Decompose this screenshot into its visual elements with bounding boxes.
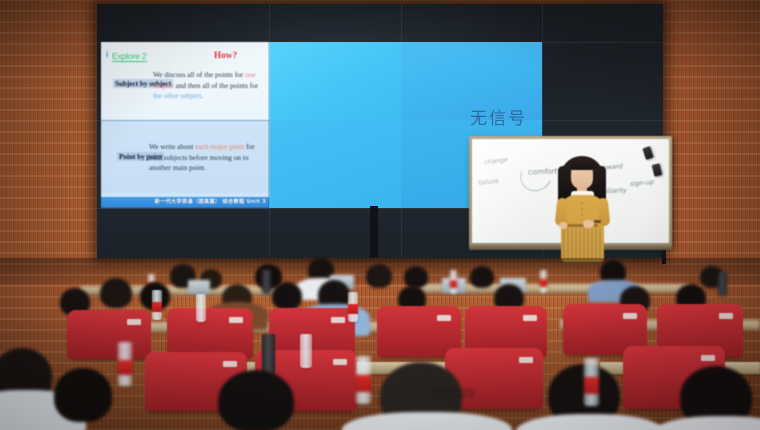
seat-number-tag <box>523 315 537 321</box>
water-bottle <box>196 294 206 322</box>
water-bottle <box>584 358 599 406</box>
water-bottle <box>300 334 312 368</box>
slide-footer-text: 新一代大学英语（提高篇） 综合教程 Unit 3 <box>155 197 266 208</box>
seat-number-tag <box>333 359 347 365</box>
slide-heading: How? <box>214 50 237 60</box>
water-bottle <box>348 292 358 322</box>
presentation-slide: i Explore 2 How? Subject by subject Poin… <box>101 42 269 208</box>
foreground-shoulders <box>652 416 760 430</box>
teacher-button <box>581 214 583 216</box>
eyeglasses <box>432 390 474 396</box>
seat-number-tag <box>223 361 237 367</box>
no-signal-label: 无信号 <box>470 104 527 129</box>
slide-footer-bar: 新一代大学英语（提高篇） 综合教程 Unit 3 <box>101 197 269 208</box>
foreground-shoulders <box>516 414 664 430</box>
info-icon: i <box>106 50 108 59</box>
water-bottle <box>540 270 547 293</box>
lecture-hall-photo: 无信号 i Explore 2 How? Subject by subject … <box>0 0 760 430</box>
student-head <box>470 266 494 288</box>
student-head <box>272 282 302 310</box>
seat-number-tag <box>331 317 345 323</box>
water-bottle <box>356 356 371 404</box>
slide-row-body: We write about each major point for both… <box>149 142 261 174</box>
teacher-hand-right <box>583 220 594 228</box>
seat-number-tag <box>701 355 715 361</box>
water-bottle <box>118 342 132 386</box>
teacher-wristband <box>594 220 601 223</box>
audience-area <box>0 250 760 430</box>
lecture-chair <box>170 310 250 358</box>
thermos <box>262 334 275 374</box>
foreground-shoulders <box>342 412 512 430</box>
slide-section-title: Explore 2 <box>112 51 147 62</box>
student-head <box>404 266 428 288</box>
teacher-button <box>581 202 583 204</box>
water-bottle <box>450 270 457 294</box>
seat-number-tag <box>127 319 141 325</box>
student-head <box>366 264 392 288</box>
laptop <box>188 280 210 294</box>
teacher-fringe <box>569 158 595 170</box>
seat-number-tag <box>229 317 243 323</box>
teacher-figure <box>552 150 614 262</box>
teacher-hand-left <box>559 222 567 229</box>
teacher-button <box>581 208 583 210</box>
seat-number-tag <box>719 313 733 319</box>
slide-row-divider <box>101 120 269 121</box>
thermos <box>262 270 271 294</box>
display-tile-blue <box>269 42 401 120</box>
student-head <box>100 278 132 308</box>
seat-number-tag <box>437 315 451 321</box>
foreground-head <box>54 368 112 422</box>
water-bottle <box>152 290 162 320</box>
lecture-chair <box>380 308 458 356</box>
lecture-chair <box>70 312 148 358</box>
thermos <box>718 272 727 296</box>
seat-number-tag <box>519 357 533 363</box>
foreground-head <box>218 370 294 430</box>
display-tile-blue <box>269 120 401 208</box>
seat-number-tag <box>623 313 637 319</box>
slide-row-body: We discuss all of the points for one sub… <box>153 70 265 102</box>
